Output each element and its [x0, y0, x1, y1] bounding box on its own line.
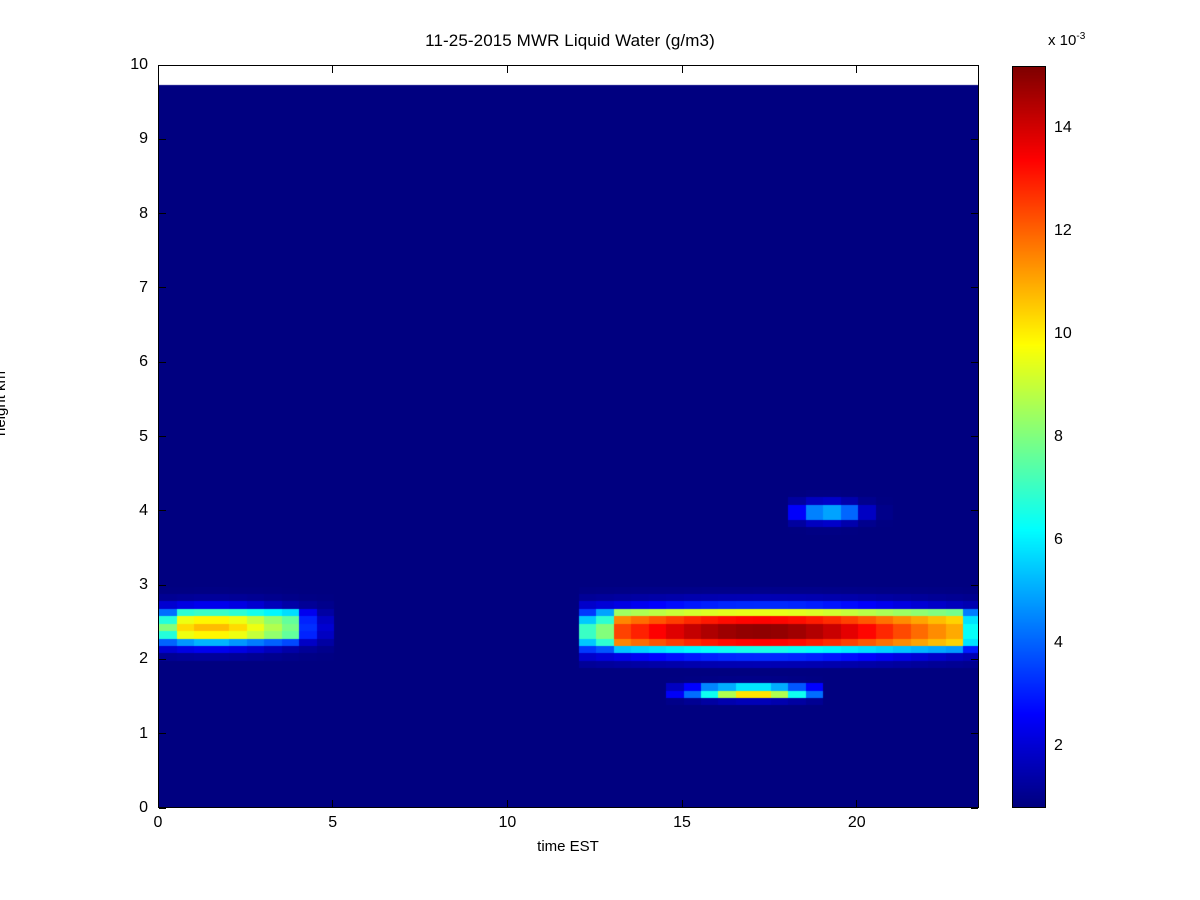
x-tick-label: 0: [138, 814, 178, 832]
y-tick-label: 1: [108, 725, 148, 743]
plot-title: 11-25-2015 MWR Liquid Water (g/m3): [0, 31, 1140, 51]
y-tick-label: 9: [108, 130, 148, 148]
y-tick-label: 3: [108, 576, 148, 594]
colorbar-gradient: [1013, 67, 1045, 807]
y-tick-label: 5: [108, 428, 148, 446]
matlab-figure: 11-25-2015 MWR Liquid Water (g/m3) 01234…: [0, 0, 1200, 900]
x-tick-label: 15: [662, 814, 702, 832]
colorbar-exponent-base: x 10: [1048, 32, 1076, 49]
colorbar-tick-label: 2: [1054, 737, 1063, 755]
colorbar-tick-label: 4: [1054, 634, 1063, 652]
x-tick-label: 10: [487, 814, 527, 832]
colorbar-exponent: x 10-3: [1048, 31, 1085, 49]
y-tick-label: 6: [108, 353, 148, 371]
liquid-water-heatmap: [159, 66, 979, 808]
colorbar-tick-label: 8: [1054, 428, 1063, 446]
colorbar: [1012, 66, 1046, 808]
y-tick-label: 4: [108, 502, 148, 520]
x-axis-title: time EST: [537, 838, 599, 855]
colorbar-tick-label: 6: [1054, 531, 1063, 549]
y-tick-label: 8: [108, 205, 148, 223]
y-axis-title: height km: [0, 371, 9, 436]
colorbar-tick-label: 12: [1054, 222, 1072, 240]
y-tick-label: 2: [108, 650, 148, 668]
x-tick-label: 20: [837, 814, 877, 832]
colorbar-tick-label: 14: [1054, 119, 1072, 137]
y-tick-label: 0: [108, 799, 148, 817]
colorbar-exponent-power: -3: [1076, 31, 1085, 42]
y-tick-label: 7: [108, 279, 148, 297]
heatmap-axes: [158, 65, 979, 808]
colorbar-tick-label: 10: [1054, 325, 1072, 343]
x-tick-label: 5: [313, 814, 353, 832]
y-tick-label: 10: [108, 56, 148, 74]
